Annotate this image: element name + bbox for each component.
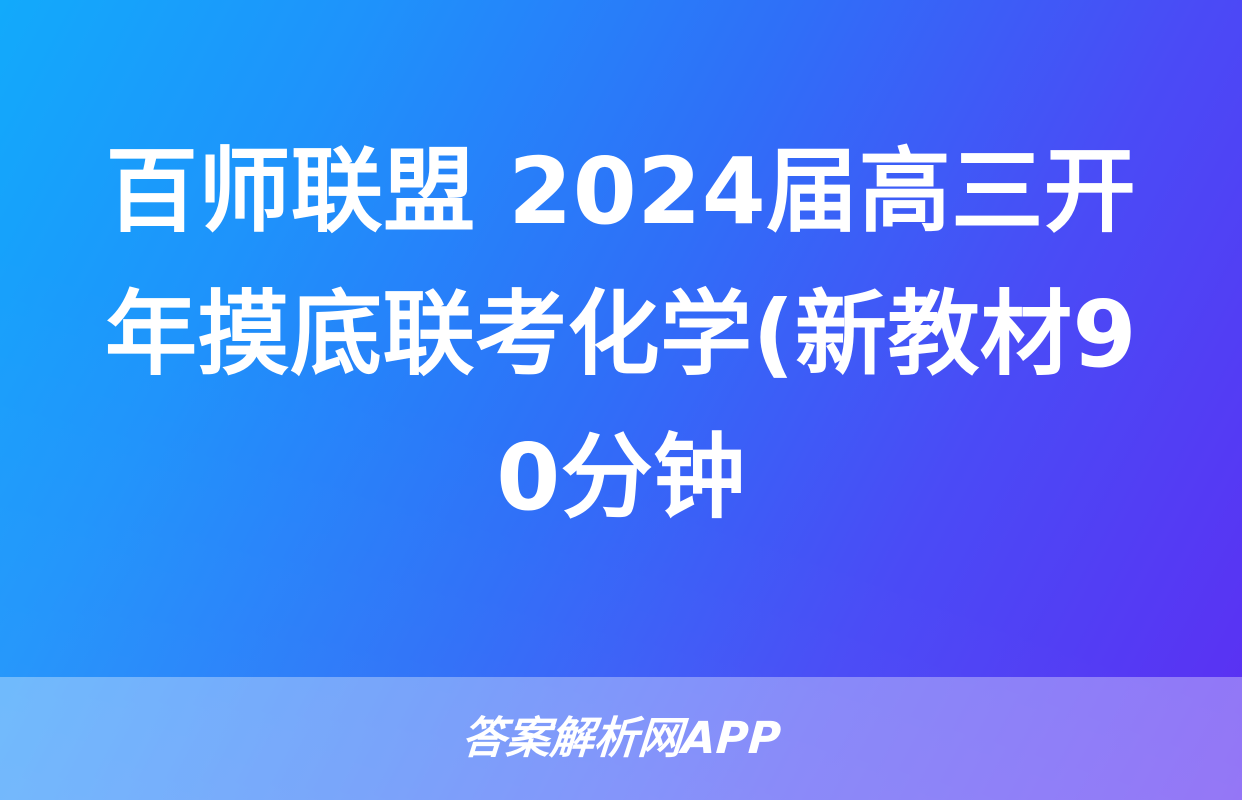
poster-title-area: 百师联盟 2024届高三开年摸底联考化学(新教材90分钟 — [0, 0, 1242, 677]
watermark-label: 答案解析网APP — [460, 717, 782, 761]
watermark-band: 答案解析网APP — [0, 677, 1242, 800]
page-title: 百师联盟 2024届高三开年摸底联考化学(新教材90分钟 — [76, 120, 1166, 549]
poster-canvas: 百师联盟 2024届高三开年摸底联考化学(新教材90分钟 答案解析网APP — [0, 0, 1242, 800]
